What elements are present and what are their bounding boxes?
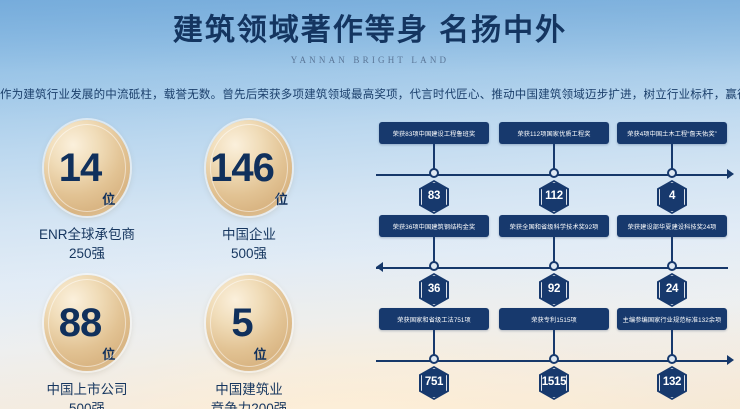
stats-grid: 14 位 ENR全球承包商 250强 146 位 中国企业 500强 88 位 bbox=[6, 120, 346, 409]
arrow-right-icon bbox=[727, 169, 734, 179]
stat-card: 14 位 ENR全球承包商 250强 bbox=[6, 120, 168, 263]
award-label: 荣获4项中国土木工程“詹天佑奖” bbox=[617, 122, 727, 144]
stat-caption: ENR全球承包商 250强 bbox=[6, 225, 168, 263]
count-badge: 92 bbox=[539, 273, 569, 307]
awards-timeline: 荣获83项中国建设工程鲁班奖 83 荣获112项国家优质工程奖 112 荣获4项 bbox=[376, 122, 734, 402]
stat-number: 14 bbox=[59, 148, 102, 188]
count-badge: 4 bbox=[657, 180, 687, 214]
node-ring-icon bbox=[429, 168, 439, 178]
node-ring-icon bbox=[429, 261, 439, 271]
stat-unit: 位 bbox=[254, 344, 267, 363]
timeline-node[interactable]: 荣获83项中国建设工程鲁班奖 83 bbox=[379, 122, 489, 144]
stat-coin: 88 位 bbox=[44, 275, 130, 371]
node-ring-icon bbox=[549, 354, 559, 364]
stat-caption: 中国上市公司 500强 bbox=[6, 380, 168, 409]
badge-value: 112 bbox=[545, 191, 563, 203]
timeline-node[interactable]: 荣获国家和省级工法751项 751 bbox=[379, 308, 489, 330]
award-label: 荣获112项国家优质工程奖 bbox=[499, 122, 609, 144]
timeline-row: 荣获国家和省级工法751项 751 荣获专利1515项 1515 主编参编国家行 bbox=[376, 308, 734, 401]
award-label: 荣获国家和省级工法751项 bbox=[379, 308, 489, 330]
badge-value: 83 bbox=[428, 191, 440, 203]
timeline-node[interactable]: 荣获建设部华夏建设科技奖24项 24 bbox=[617, 215, 727, 237]
arrow-left-icon bbox=[376, 262, 383, 272]
stat-coin: 14 位 bbox=[44, 120, 130, 216]
count-badge: 751 bbox=[419, 366, 449, 400]
badge-value: 751 bbox=[425, 377, 443, 389]
badge-value: 4 bbox=[669, 191, 675, 203]
badge-value: 36 bbox=[428, 284, 440, 296]
page-title: 建筑领域著作等身 名扬中外 bbox=[0, 12, 740, 50]
timeline-row: 荣获83项中国建设工程鲁班奖 83 荣获112项国家优质工程奖 112 荣获4项 bbox=[376, 122, 734, 215]
node-ring-icon bbox=[549, 261, 559, 271]
stat-card: 146 位 中国企业 500强 bbox=[168, 120, 330, 263]
award-label: 荣获专利1515项 bbox=[499, 308, 609, 330]
timeline-node[interactable]: 主编参编国家行业规范标准132余项 132 bbox=[617, 308, 727, 330]
stat-caption: 中国企业 500强 bbox=[168, 225, 330, 263]
award-label: 荣获全国和省级科学技术奖92项 bbox=[499, 215, 609, 237]
count-badge: 112 bbox=[539, 180, 569, 214]
timeline-node[interactable]: 荣获112项国家优质工程奖 112 bbox=[499, 122, 609, 144]
stat-caption-line2: 500强 bbox=[6, 399, 168, 409]
arrow-right-icon bbox=[727, 355, 734, 365]
stat-number: 88 bbox=[59, 303, 102, 343]
badge-value: 92 bbox=[548, 284, 560, 296]
count-badge: 24 bbox=[657, 273, 687, 307]
stat-card: 88 位 中国上市公司 500强 bbox=[6, 275, 168, 409]
count-badge: 36 bbox=[419, 273, 449, 307]
stat-number: 146 bbox=[210, 148, 274, 188]
node-ring-icon bbox=[667, 354, 677, 364]
node-ring-icon bbox=[667, 261, 677, 271]
badge-value: 1515 bbox=[542, 377, 566, 389]
count-badge: 1515 bbox=[539, 366, 569, 400]
stat-caption-line2: 250强 bbox=[6, 244, 168, 263]
award-label: 荣获83项中国建设工程鲁班奖 bbox=[379, 122, 489, 144]
badge-value: 132 bbox=[663, 377, 681, 389]
stat-caption-line1: 中国建筑业 bbox=[168, 380, 330, 399]
brand-subtitle: YANNAN BRIGHT LAND bbox=[0, 55, 740, 65]
stat-number: 5 bbox=[231, 303, 252, 343]
stat-caption: 中国建筑业 竞争力200强 bbox=[168, 380, 330, 409]
award-label: 主编参编国家行业规范标准132余项 bbox=[617, 308, 727, 330]
promo-banner: 建筑领域著作等身 名扬中外 YANNAN BRIGHT LAND 作为建筑行业发… bbox=[0, 0, 740, 409]
count-badge: 132 bbox=[657, 366, 687, 400]
badge-value: 24 bbox=[666, 284, 678, 296]
stat-coin: 5 位 bbox=[206, 275, 292, 371]
stat-caption-line1: ENR全球承包商 bbox=[6, 225, 168, 244]
node-ring-icon bbox=[667, 168, 677, 178]
timeline-row: 荣获36项中国建筑钢结构金奖 36 荣获全国和省级科学技术奖92项 92 荣获建 bbox=[376, 215, 734, 308]
timeline-node[interactable]: 荣获全国和省级科学技术奖92项 92 bbox=[499, 215, 609, 237]
stat-coin: 146 位 bbox=[206, 120, 292, 216]
timeline-node[interactable]: 荣获专利1515项 1515 bbox=[499, 308, 609, 330]
node-ring-icon bbox=[429, 354, 439, 364]
description-text: 作为建筑行业发展的中流砥柱，载誉无数。曾先后荣获多项建筑领域最高奖项，代言时代匠… bbox=[0, 86, 740, 102]
header: 建筑领域著作等身 名扬中外 YANNAN BRIGHT LAND bbox=[0, 12, 740, 65]
stat-caption-line2: 500强 bbox=[168, 244, 330, 263]
stat-unit: 位 bbox=[102, 189, 115, 208]
timeline-node[interactable]: 荣获36项中国建筑钢结构金奖 36 bbox=[379, 215, 489, 237]
stat-unit: 位 bbox=[275, 189, 288, 208]
stat-unit: 位 bbox=[102, 344, 115, 363]
award-label: 荣获建设部华夏建设科技奖24项 bbox=[617, 215, 727, 237]
node-ring-icon bbox=[549, 168, 559, 178]
stat-caption-line1: 中国上市公司 bbox=[6, 380, 168, 399]
stat-caption-line1: 中国企业 bbox=[168, 225, 330, 244]
award-label: 荣获36项中国建筑钢结构金奖 bbox=[379, 215, 489, 237]
stat-card: 5 位 中国建筑业 竞争力200强 bbox=[168, 275, 330, 409]
count-badge: 83 bbox=[419, 180, 449, 214]
timeline-node[interactable]: 荣获4项中国土木工程“詹天佑奖” 4 bbox=[617, 122, 727, 144]
stat-caption-line2: 竞争力200强 bbox=[168, 399, 330, 409]
